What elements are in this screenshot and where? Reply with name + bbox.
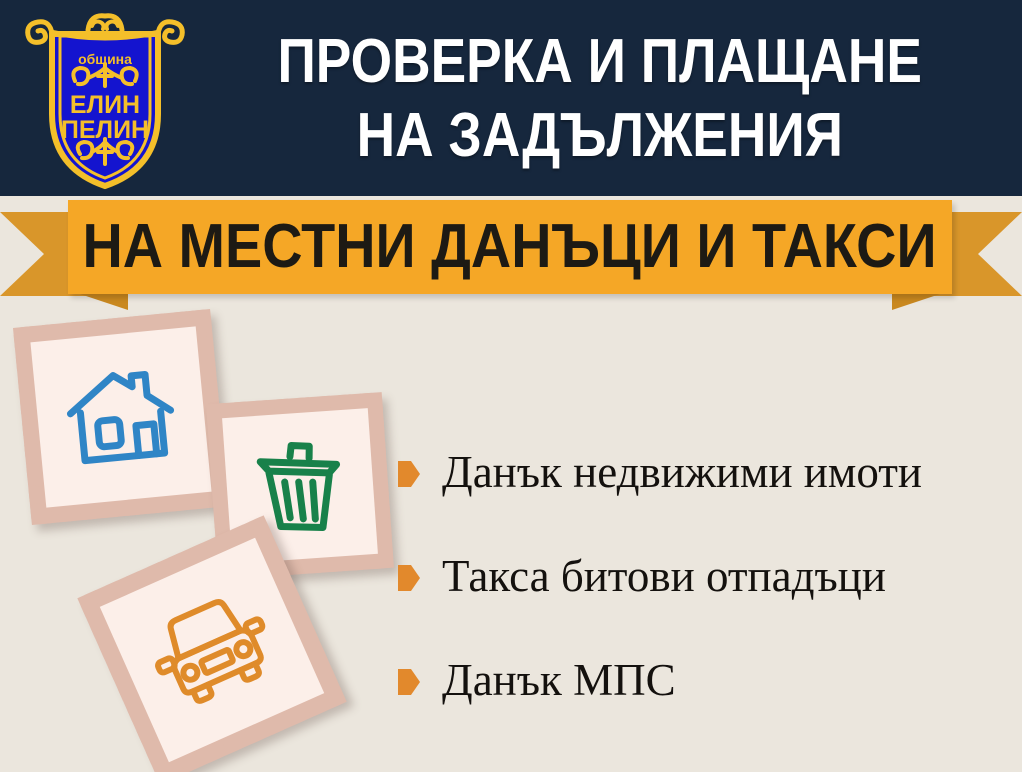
list-item[interactable]: Данък недвижими имоти [398, 420, 1018, 524]
header-bar: община ЕЛИН ПЕЛИН [0, 0, 1022, 196]
page-title-line-2: НА ЗАДЪЛЖЕНИЯ [357, 99, 843, 173]
page-title-line-1: ПРОВЕРКА И ПЛАЩАНЕ [278, 25, 922, 99]
list-item-label: Такса битови отпадъци [442, 550, 886, 602]
list-item-label: Данък недвижими имоти [442, 446, 922, 498]
ribbon-banner: НА МЕСТНИ ДАНЪЦИ И ТАКСИ [0, 196, 1022, 312]
page-title: ПРОВЕРКА И ПЛАЩАНЕ НА ЗАДЪЛЖЕНИЯ [190, 14, 1010, 184]
arrow-bullet-icon [398, 669, 420, 695]
list-item[interactable]: Такса битови отпадъци [398, 524, 1018, 628]
poster-canvas: община ЕЛИН ПЕЛИН [0, 0, 1022, 772]
tax-types-list: Данък недвижими имоти Такса битови отпад… [398, 420, 1018, 732]
elin-pelin-coat-of-arms-icon: община ЕЛИН ПЕЛИН [20, 6, 190, 190]
arrow-bullet-icon [398, 461, 420, 487]
list-item[interactable]: Данък МПС [398, 628, 1018, 732]
arrow-bullet-icon [398, 565, 420, 591]
house-icon [13, 309, 229, 525]
ribbon-body: НА МЕСТНИ ДАНЪЦИ И ТАКСИ [68, 200, 952, 294]
list-item-label: Данък МПС [442, 654, 676, 706]
ribbon-label: НА МЕСТНИ ДАНЪЦИ И ТАКСИ [83, 214, 937, 280]
stamp-card-house [13, 309, 229, 525]
svg-text:ЕЛИН: ЕЛИН [70, 91, 140, 119]
